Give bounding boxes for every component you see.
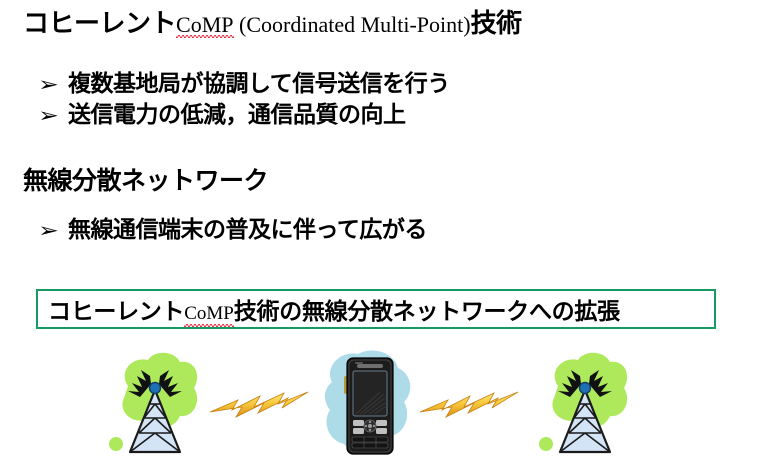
list-item: ➢ 複数基地局が協調して信号送信を行う bbox=[38, 72, 450, 95]
arrowhead-bullet-icon: ➢ bbox=[38, 105, 76, 125]
mobile-phone-icon bbox=[318, 348, 422, 465]
highlight-box-jp-prefix: コヒーレント bbox=[48, 299, 184, 324]
page-title-expansion: (Coordinated Multi-Point) bbox=[234, 12, 471, 37]
base-station-tower-left bbox=[98, 348, 210, 465]
list-item: ➢ 無線通信端末の普及に伴って広がる bbox=[38, 218, 427, 241]
list-item-label: 無線通信端末の普及に伴って広がる bbox=[68, 218, 427, 241]
page-title-jp-suffix: 技術 bbox=[471, 9, 522, 38]
page-title: コヒーレントCoMP (Coordinated Multi-Point)技術 bbox=[23, 11, 522, 37]
spellcheck-underline-box: CoMP bbox=[184, 303, 234, 325]
cell-tower-icon bbox=[98, 348, 210, 460]
slide-canvas: コヒーレントCoMP (Coordinated Multi-Point)技術 ➢… bbox=[0, 0, 767, 465]
mobile-handset bbox=[318, 348, 422, 465]
page-title-jp-prefix: コヒーレント bbox=[23, 9, 176, 38]
radio-link-left bbox=[208, 386, 312, 435]
tower-apex-dot bbox=[150, 383, 161, 394]
base-station-tower-right bbox=[528, 348, 640, 465]
tower-apex-dot bbox=[580, 383, 591, 394]
cell-tower-icon bbox=[528, 348, 640, 460]
radio-link-right bbox=[418, 386, 522, 435]
highlight-box-acronym: CoMP bbox=[184, 303, 234, 324]
figure-network-diagram bbox=[0, 348, 767, 465]
handset-nav-cluster bbox=[364, 420, 376, 432]
spellcheck-underline-title: CoMP bbox=[176, 14, 233, 36]
highlight-box-text: コヒーレントCoMP技術の無線分散ネットワークへの拡張 bbox=[48, 292, 620, 326]
lightning-bolt-icon bbox=[418, 386, 522, 430]
arrowhead-bullet-icon: ➢ bbox=[38, 220, 76, 240]
highlight-callout-box: コヒーレントCoMP技術の無線分散ネットワークへの拡張 bbox=[36, 289, 716, 329]
handset-earpiece-grille bbox=[357, 364, 383, 368]
list-item-label: 複数基地局が協調して信号送信を行う bbox=[68, 72, 450, 95]
list-item-label: 送信電力の低減，通信品質の向上 bbox=[68, 103, 406, 126]
page-title-acronym: CoMP bbox=[176, 12, 233, 37]
handset-sensor bbox=[355, 362, 363, 364]
lightning-bolt-icon bbox=[208, 386, 312, 430]
section-heading-wireless-distributed-network: 無線分散ネットワーク bbox=[23, 169, 268, 194]
arrowhead-bullet-icon: ➢ bbox=[38, 74, 76, 94]
highlight-box-jp-suffix: 技術の無線分散ネットワークへの拡張 bbox=[234, 299, 620, 324]
list-item: ➢ 送信電力の低減，通信品質の向上 bbox=[38, 103, 406, 126]
